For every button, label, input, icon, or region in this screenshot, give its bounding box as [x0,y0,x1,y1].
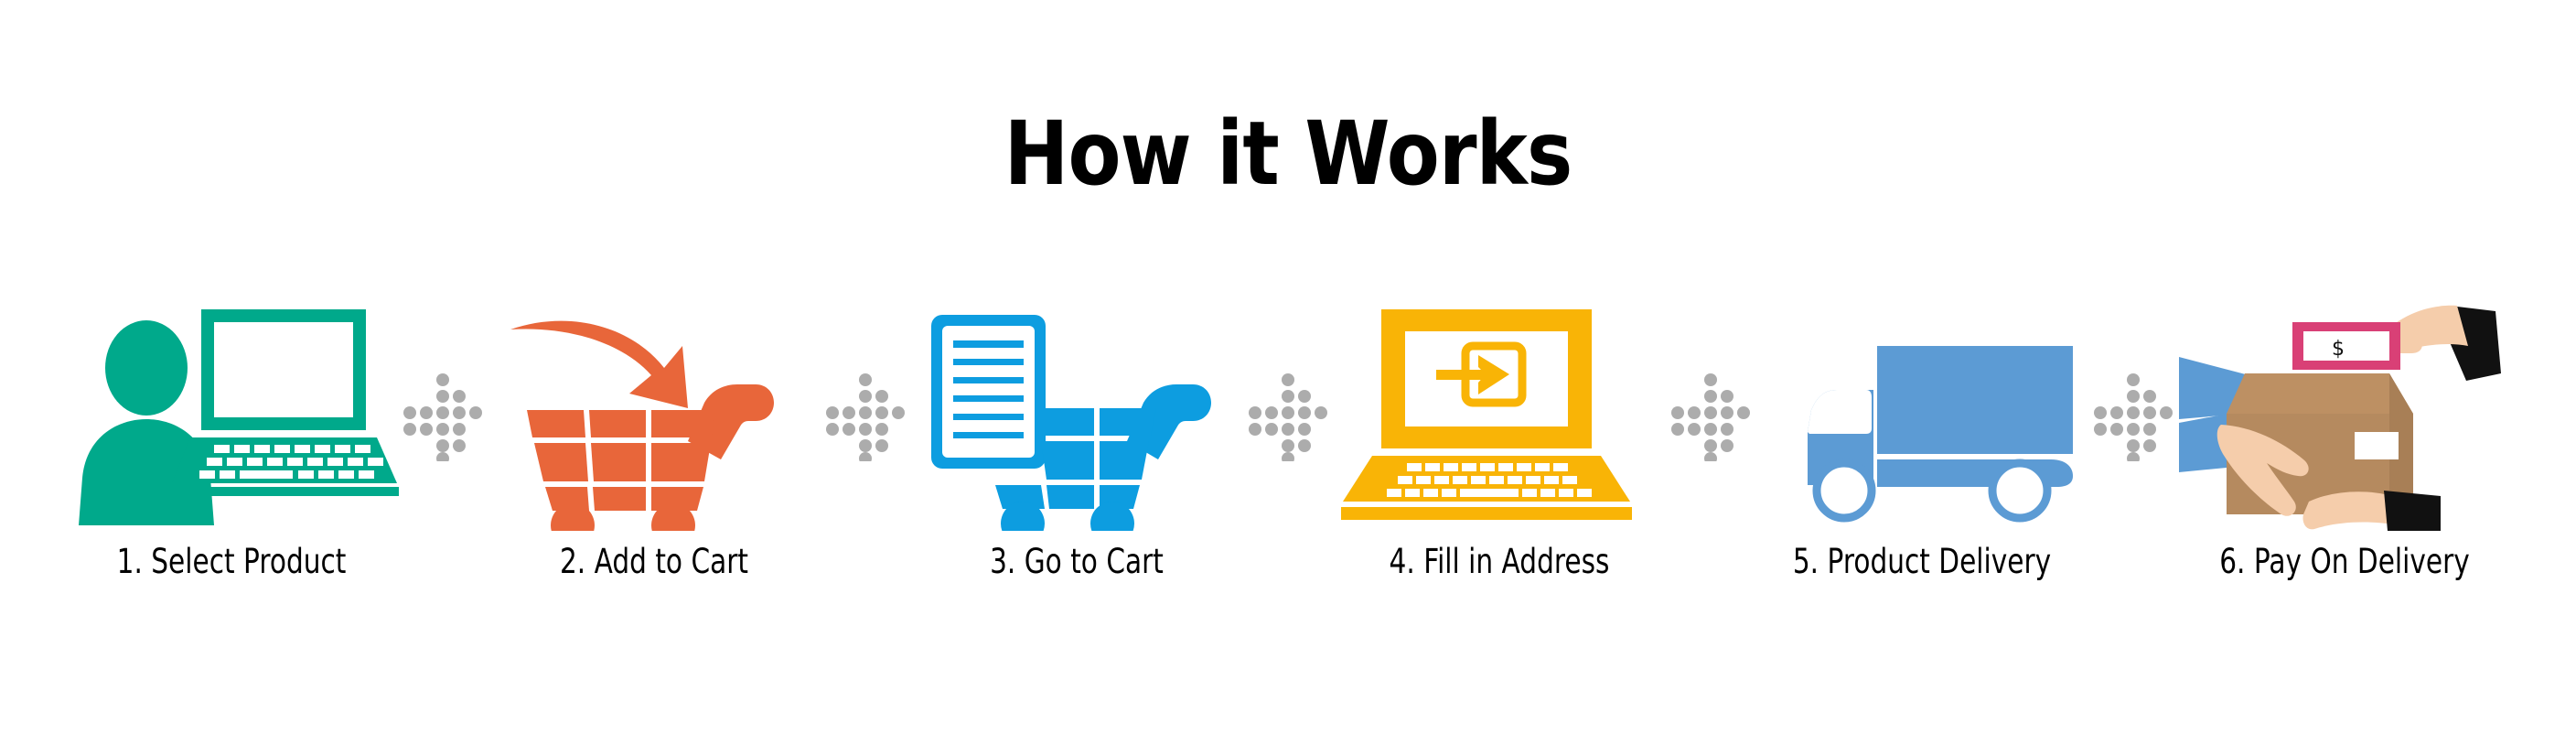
dotted-arrow-right-icon [1246,302,1330,531]
how-it-works-infographic: How it Works [0,0,2576,745]
step-2-add-to-cart[interactable]: 2. Add to Cart [485,302,823,613]
step-5-label: 5. Product Delivery [1787,542,2057,582]
steps-row: 1. Select Product [0,302,2576,632]
document-cart-icon [907,302,1246,531]
dotted-arrow-right-icon [2091,302,2175,531]
cash-on-delivery-icon: $ [2175,302,2514,531]
step-1-select-product[interactable]: 1. Select Product [62,302,401,613]
person-laptop-icon [62,302,401,531]
page-title: How it Works [155,108,2421,200]
step-4-fill-in-address[interactable]: 4. Fill in Address [1330,302,1669,613]
dollar-symbol: $ [2332,338,2345,361]
step-5-product-delivery[interactable]: 5. Product Delivery [1753,302,2091,613]
step-3-label: 3. Go to Cart [941,542,1212,582]
step-2-label: 2. Add to Cart [519,542,789,582]
delivery-truck-icon [1753,302,2091,531]
laptop-login-icon [1330,302,1669,531]
step-6-pay-on-delivery[interactable]: $ [2175,302,2514,613]
dotted-arrow-right-icon [1669,302,1753,531]
step-1-label: 1. Select Product [96,542,367,582]
dotted-arrow-right-icon [823,302,907,531]
step-6-label: 6. Pay On Delivery [2209,542,2480,582]
dotted-arrow-right-icon [401,302,485,531]
step-3-go-to-cart[interactable]: 3. Go to Cart [907,302,1246,613]
cart-arrow-icon [485,302,823,531]
step-4-label: 4. Fill in Address [1364,542,1635,582]
